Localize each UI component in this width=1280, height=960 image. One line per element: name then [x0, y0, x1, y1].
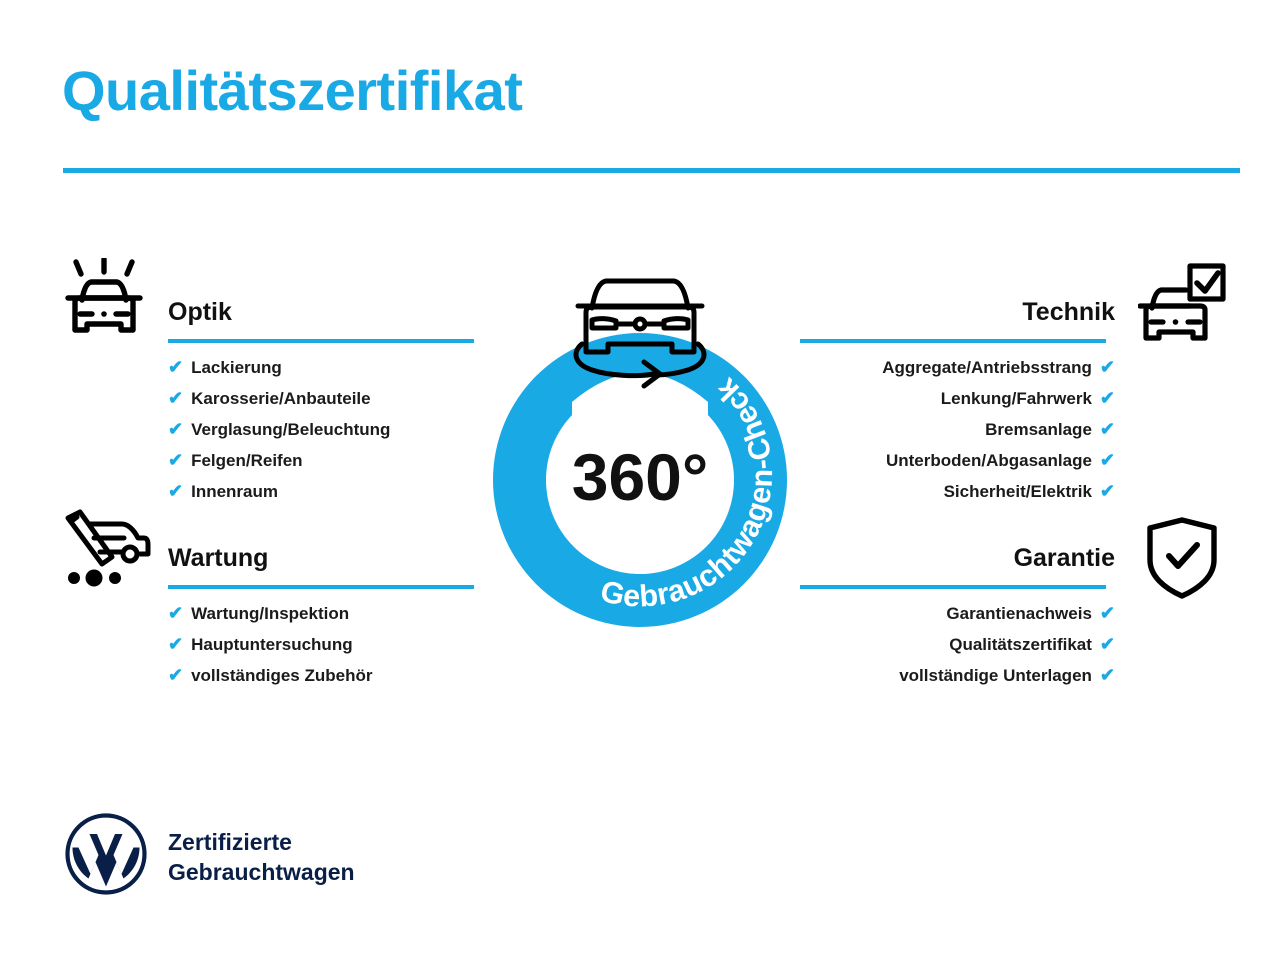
check-icon: ✔ [168, 629, 183, 659]
check-icon: ✔ [1100, 352, 1115, 382]
list-item: ✔ Felgen/Reifen [168, 445, 474, 476]
checklist: ✔ Lackierung ✔ Karosserie/Anbauteile ✔ V… [168, 352, 474, 507]
section-divider [168, 585, 474, 589]
section-header: Wartung [168, 541, 474, 589]
list-item: ✔ Karosserie/Anbauteile [168, 383, 474, 414]
list-item-label: Lenkung/Fahrwerk [941, 384, 1092, 414]
check-icon: ✔ [168, 383, 183, 413]
section-divider [800, 585, 1106, 589]
section-divider [800, 339, 1106, 343]
section-garantie: Garantie Garantienachweis ✔ Qualitätszer… [800, 541, 1115, 691]
section-optik: Optik ✔ Lackierung ✔ Karosserie/Anbautei… [168, 295, 474, 507]
list-item: ✔ Innenraum [168, 476, 474, 507]
vw-lockup-line-2: Gebrauchtwagen [168, 857, 355, 887]
list-item: ✔ Verglasung/Beleuchtung [168, 414, 474, 445]
list-item-label: Unterboden/Abgasanlage [886, 446, 1092, 476]
section-header: Technik [800, 295, 1115, 343]
checklist: ✔ Wartung/Inspektion ✔ Hauptuntersuchung… [168, 598, 474, 691]
list-item: Aggregate/Antriebsstrang ✔ [800, 352, 1115, 383]
list-item-label: Karosserie/Anbauteile [191, 384, 371, 414]
section-technik: Technik Aggregate/Antriebsstrang ✔ Lenku… [800, 295, 1115, 507]
list-item-label: vollständige Unterlagen [899, 661, 1092, 691]
list-item: ✔ Lackierung [168, 352, 474, 383]
check-icon: ✔ [1100, 660, 1115, 690]
list-item: Unterboden/Abgasanlage ✔ [800, 445, 1115, 476]
list-item-label: Garantienachweis [946, 599, 1092, 629]
section-divider [168, 339, 474, 343]
section-title: Optik [168, 295, 474, 329]
list-item: Lenkung/Fahrwerk ✔ [800, 383, 1115, 414]
vw-lockup-line-1: Zertifizierte [168, 827, 355, 857]
list-item-label: Verglasung/Beleuchtung [191, 415, 390, 445]
service-pen-car-icon [60, 508, 152, 593]
check-icon: ✔ [168, 352, 183, 382]
check-icon: ✔ [168, 598, 183, 628]
vw-certified-lockup: Zertifizierte Gebrauchtwagen [64, 812, 355, 901]
list-item-label: Felgen/Reifen [191, 446, 302, 476]
vw-lockup-text: Zertifizierte Gebrauchtwagen [168, 827, 355, 887]
list-item-label: Innenraum [191, 477, 278, 507]
check-icon: ✔ [1100, 383, 1115, 413]
page-title: Qualitätszertifikat [62, 60, 522, 122]
title-divider [63, 168, 1240, 173]
list-item: Bremsanlage ✔ [800, 414, 1115, 445]
section-title: Wartung [168, 541, 474, 575]
shield-check-icon [1144, 516, 1220, 605]
list-item-label: Lackierung [191, 353, 282, 383]
list-item: ✔ Wartung/Inspektion [168, 598, 474, 629]
list-item-label: Wartung/Inspektion [191, 599, 349, 629]
list-item-label: Sicherheit/Elektrik [944, 477, 1092, 507]
list-item-label: Aggregate/Antriebsstrang [882, 353, 1092, 383]
check-icon: ✔ [1100, 414, 1115, 444]
list-item: vollständige Unterlagen ✔ [800, 660, 1115, 691]
list-item-label: Bremsanlage [985, 415, 1092, 445]
check-icon: ✔ [168, 445, 183, 475]
list-item: Qualitätszertifikat ✔ [800, 629, 1115, 660]
check-icon: ✔ [1100, 629, 1115, 659]
car-front-shine-icon [60, 258, 148, 349]
check-icon: ✔ [168, 414, 183, 444]
check-icon: ✔ [1100, 476, 1115, 506]
car-front-checkbox-icon [1138, 262, 1226, 355]
list-item-label: Hauptuntersuchung [191, 630, 353, 660]
section-wartung: Wartung ✔ Wartung/Inspektion ✔ Hauptunte… [168, 541, 474, 691]
list-item: Sicherheit/Elektrik ✔ [800, 476, 1115, 507]
badge-center-label: 360° [572, 440, 709, 514]
section-title: Technik [800, 295, 1115, 329]
list-item-label: vollständiges Zubehör [191, 661, 372, 691]
check-icon: ✔ [1100, 445, 1115, 475]
section-header: Garantie [800, 541, 1115, 589]
checklist: Garantienachweis ✔ Qualitätszertifikat ✔… [800, 598, 1115, 691]
section-title: Garantie [800, 541, 1115, 575]
section-header: Optik [168, 295, 474, 343]
list-item-label: Qualitätszertifikat [949, 630, 1092, 660]
checklist: Aggregate/Antriebsstrang ✔ Lenkung/Fahrw… [800, 352, 1115, 507]
list-item: ✔ vollständiges Zubehör [168, 660, 474, 691]
check-icon: ✔ [168, 476, 183, 506]
check-icon: ✔ [168, 660, 183, 690]
check-icon: ✔ [1100, 598, 1115, 628]
gebrauchtwagen-check-badge: Gebrauchtwagen-Check 360° [462, 252, 818, 628]
vw-logo [64, 812, 148, 901]
list-item: Garantienachweis ✔ [800, 598, 1115, 629]
list-item: ✔ Hauptuntersuchung [168, 629, 474, 660]
